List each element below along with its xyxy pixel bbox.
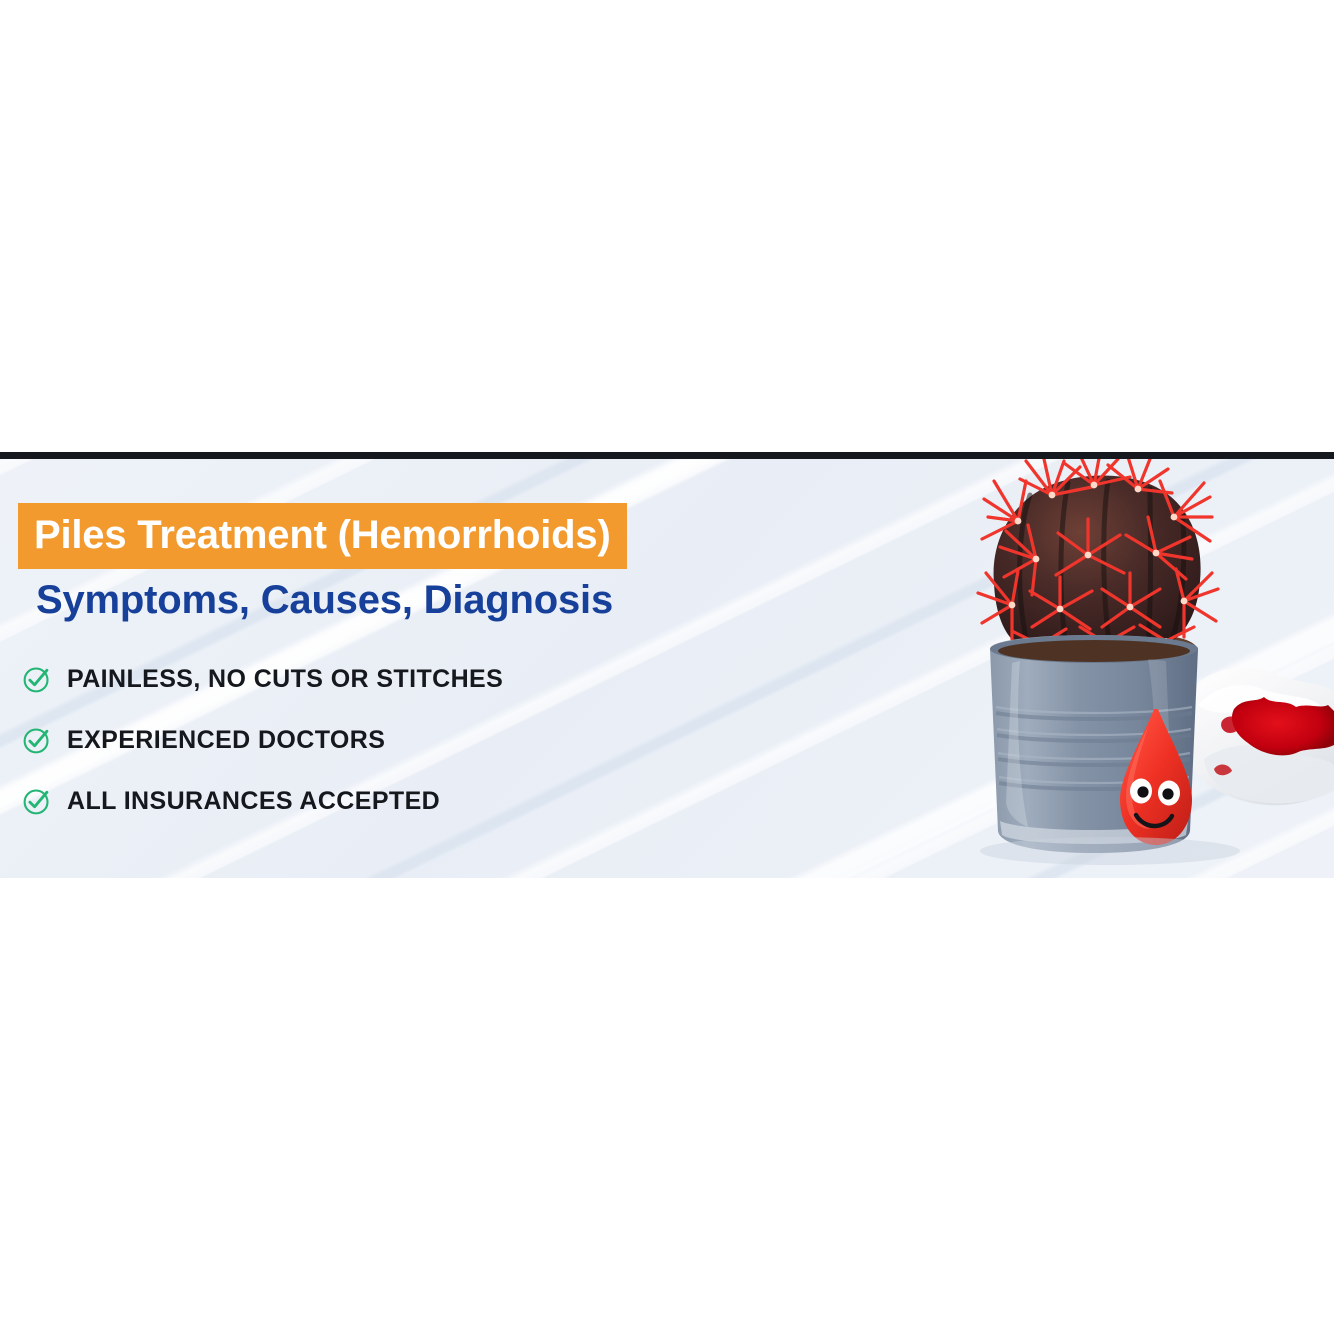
list-item: PAINLESS, NO CUTS OR STITCHES (22, 660, 778, 698)
check-circle-icon (22, 786, 52, 816)
list-item-label: PAINLESS, NO CUTS OR STITCHES (67, 667, 503, 692)
banner-top-rule (0, 452, 1334, 459)
cactus-blood-drop-photo (960, 459, 1334, 878)
list-item-label: EXPERIENCED DOCTORS (67, 728, 385, 753)
check-circle-icon (22, 725, 52, 755)
list-item-label: ALL INSURANCES ACCEPTED (67, 789, 440, 814)
piles-treatment-banner: Piles Treatment (Hemorrhoids) Symptoms, … (0, 452, 1334, 878)
banner-title: Piles Treatment (Hemorrhoids) (18, 503, 627, 569)
banner-copy-block: Piles Treatment (Hemorrhoids) Symptoms, … (18, 503, 778, 843)
banner-benefit-list: PAINLESS, NO CUTS OR STITCHES EXPERIENCE… (22, 660, 778, 820)
list-item: ALL INSURANCES ACCEPTED (22, 782, 778, 820)
list-item: EXPERIENCED DOCTORS (22, 721, 778, 759)
page-root: Piles Treatment (Hemorrhoids) Symptoms, … (0, 0, 1334, 1334)
banner-subtitle: Symptoms, Causes, Diagnosis (36, 580, 778, 620)
cactus-illustration (960, 459, 1334, 878)
cactus-plant (978, 459, 1218, 661)
check-circle-icon (22, 664, 52, 694)
bloody-tissue (1186, 667, 1334, 805)
